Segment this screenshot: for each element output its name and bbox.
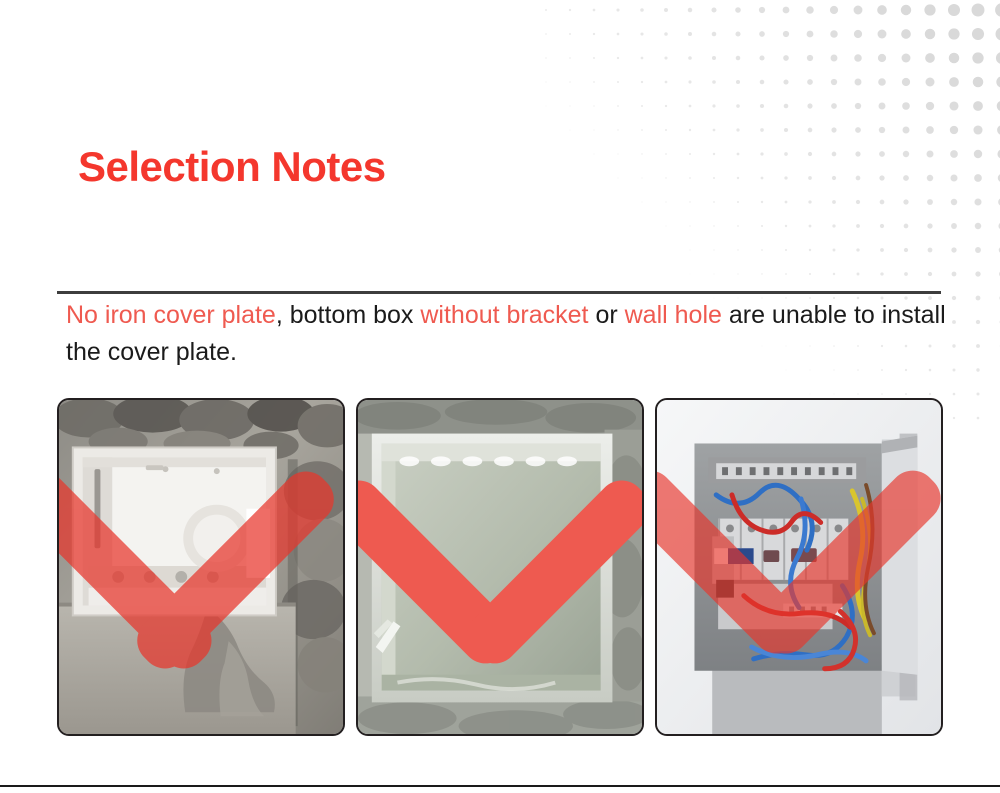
photo-row [57, 398, 943, 736]
body-paragraph: No iron cover plate, bottom box without … [66, 297, 946, 371]
slide-canvas: Selection Notes No iron cover plate, bot… [0, 0, 1000, 793]
bottom-rule [0, 785, 1000, 787]
body-segment-5: wall hole [625, 301, 722, 329]
body-segment-3: without bracket [420, 301, 588, 329]
photo-card-wall-hole[interactable] [57, 398, 345, 736]
photo-card-box-without-bracket[interactable] [356, 398, 644, 736]
title-divider [57, 291, 941, 294]
body-segment-2: , bottom box [276, 301, 421, 329]
body-segment-4: or [589, 301, 625, 329]
body-segment-1: No iron cover plate [66, 301, 276, 329]
page-title: Selection Notes [78, 144, 386, 190]
photo-card-no-iron-cover-plate[interactable] [655, 398, 943, 736]
